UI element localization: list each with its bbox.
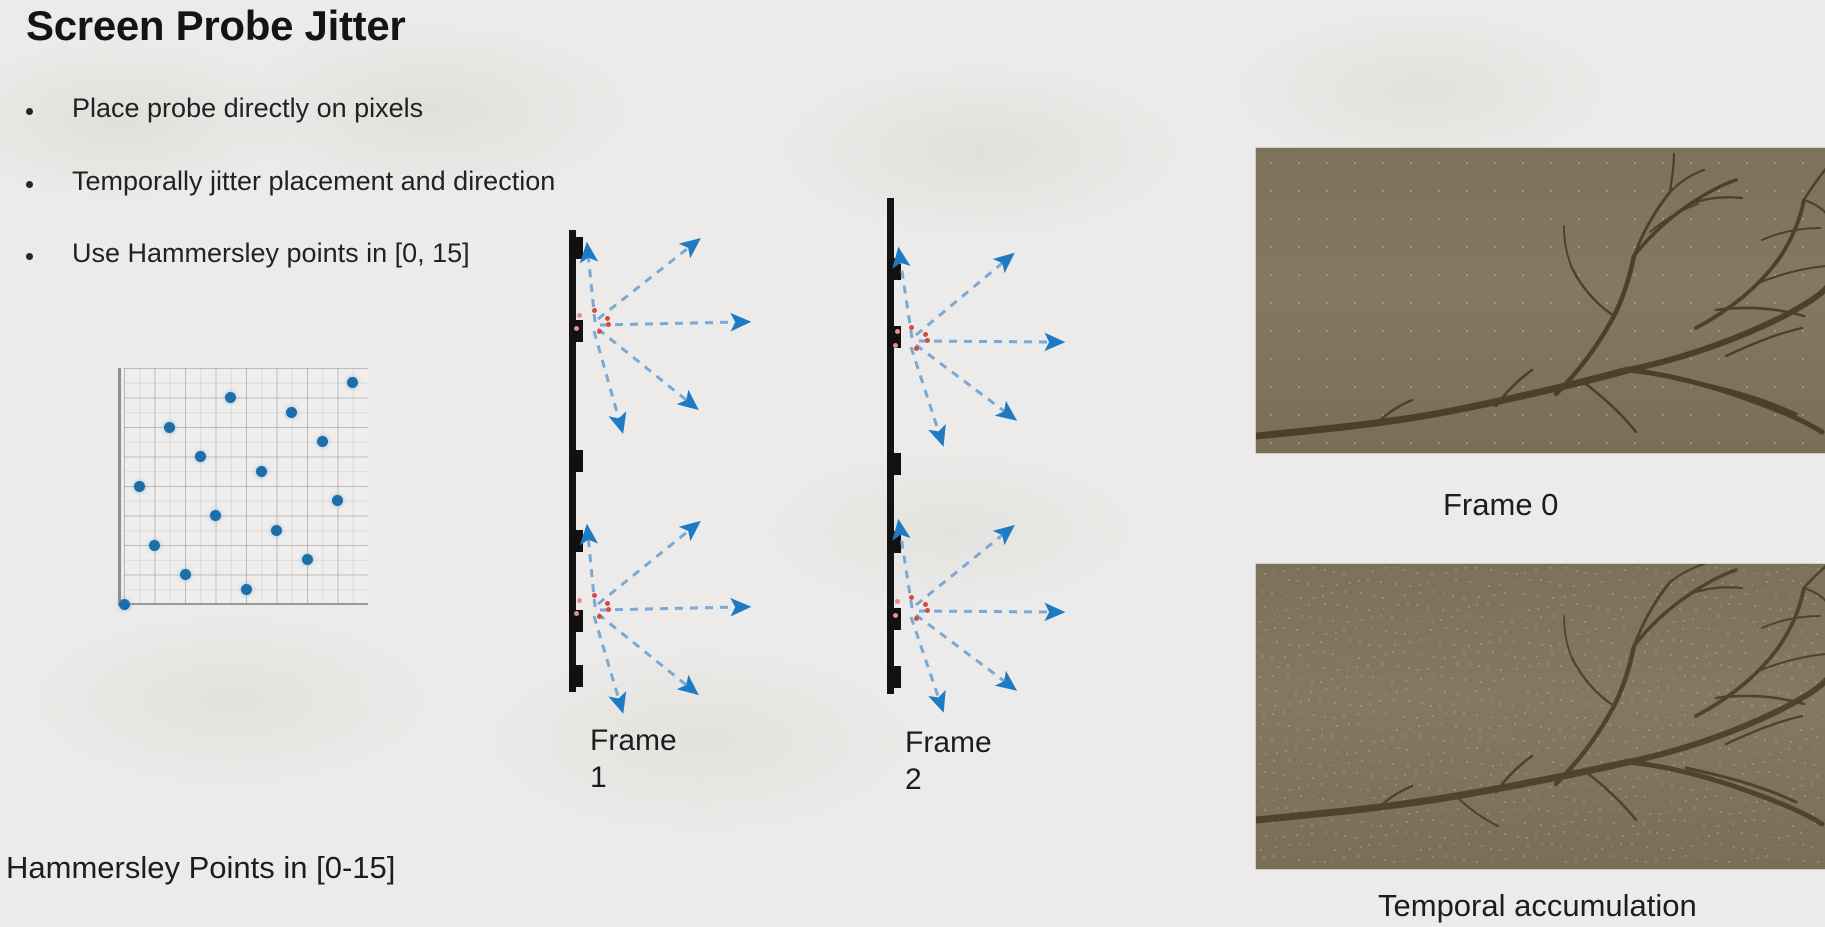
probe-dot bbox=[925, 338, 930, 343]
scatter-point bbox=[241, 584, 252, 595]
probe-dot bbox=[592, 308, 597, 313]
hammersley-scatter-plot bbox=[118, 368, 368, 606]
tree-branches-temporal bbox=[1256, 564, 1825, 869]
probe-dot bbox=[923, 332, 928, 337]
bullet-item-1: Place probe directly on pixels bbox=[26, 94, 423, 124]
bullet-label: Temporally jitter placement and directio… bbox=[72, 167, 555, 197]
scatter-point bbox=[302, 554, 313, 565]
probe-dot bbox=[895, 599, 900, 604]
probe-dot bbox=[592, 593, 597, 598]
probe-dot bbox=[895, 329, 900, 334]
page-title: Screen Probe Jitter bbox=[26, 2, 405, 50]
frame-2-diagram bbox=[878, 198, 1178, 698]
render-frame-0 bbox=[1256, 148, 1825, 453]
bullet-item-3: Use Hammersley points in [0, 15] bbox=[26, 239, 470, 269]
scatter-point bbox=[286, 407, 297, 418]
probe-dot bbox=[605, 601, 610, 606]
bullet-dot-icon bbox=[26, 181, 33, 188]
scatter-point bbox=[195, 451, 206, 462]
render-temporal-accumulation bbox=[1256, 564, 1825, 869]
probe-dot bbox=[925, 608, 930, 613]
scatter-point bbox=[164, 422, 175, 433]
probe-dot bbox=[914, 616, 919, 621]
bullet-label: Place probe directly on pixels bbox=[72, 94, 423, 124]
probe-dot bbox=[606, 607, 611, 612]
frame-1-label-line2: 1 bbox=[590, 762, 607, 794]
render-frame-0-caption: Frame 0 bbox=[1443, 487, 1558, 523]
probe-dot bbox=[597, 614, 602, 619]
frame-1-arrows bbox=[560, 225, 860, 695]
scatter-point bbox=[149, 540, 160, 551]
scatter-y-axis bbox=[118, 368, 121, 606]
frame-1-label-line1: Frame bbox=[590, 725, 677, 757]
probe-dot bbox=[923, 602, 928, 607]
scatter-caption: Hammersley Points in [0-15] bbox=[6, 850, 395, 886]
scatter-point bbox=[119, 599, 130, 610]
probe-dot bbox=[577, 598, 582, 603]
bullet-item-2: Temporally jitter placement and directio… bbox=[26, 167, 555, 197]
probe-dot bbox=[606, 322, 611, 327]
probe-dot bbox=[893, 343, 898, 348]
scatter-x-axis bbox=[118, 603, 368, 605]
frame-2-label-line1: Frame bbox=[905, 727, 992, 759]
scatter-point bbox=[134, 481, 145, 492]
probe-dot bbox=[914, 346, 919, 351]
render-temporal-caption: Temporal accumulation bbox=[1378, 888, 1697, 924]
scatter-point bbox=[271, 525, 282, 536]
tree-branches-frame-0 bbox=[1256, 148, 1825, 453]
probe-dot bbox=[577, 313, 582, 318]
bullet-label: Use Hammersley points in [0, 15] bbox=[72, 239, 470, 269]
scatter-point bbox=[317, 436, 328, 447]
frame-2-label-line2: 2 bbox=[905, 764, 922, 796]
frame-1-diagram bbox=[560, 225, 860, 695]
scatter-point bbox=[210, 510, 221, 521]
probe-dot bbox=[909, 325, 914, 330]
probe-dot bbox=[605, 316, 610, 321]
frame-2-arrows bbox=[878, 198, 1178, 698]
probe-dot bbox=[574, 326, 579, 331]
probe-dot bbox=[597, 329, 602, 334]
bullet-dot-icon bbox=[26, 108, 33, 115]
scatter-gridlines bbox=[124, 368, 368, 604]
scatter-point bbox=[180, 569, 191, 580]
probe-dot bbox=[893, 613, 898, 618]
scatter-point bbox=[256, 466, 267, 477]
probe-dot bbox=[909, 595, 914, 600]
bullet-dot-icon bbox=[26, 253, 33, 260]
probe-dot bbox=[574, 611, 579, 616]
